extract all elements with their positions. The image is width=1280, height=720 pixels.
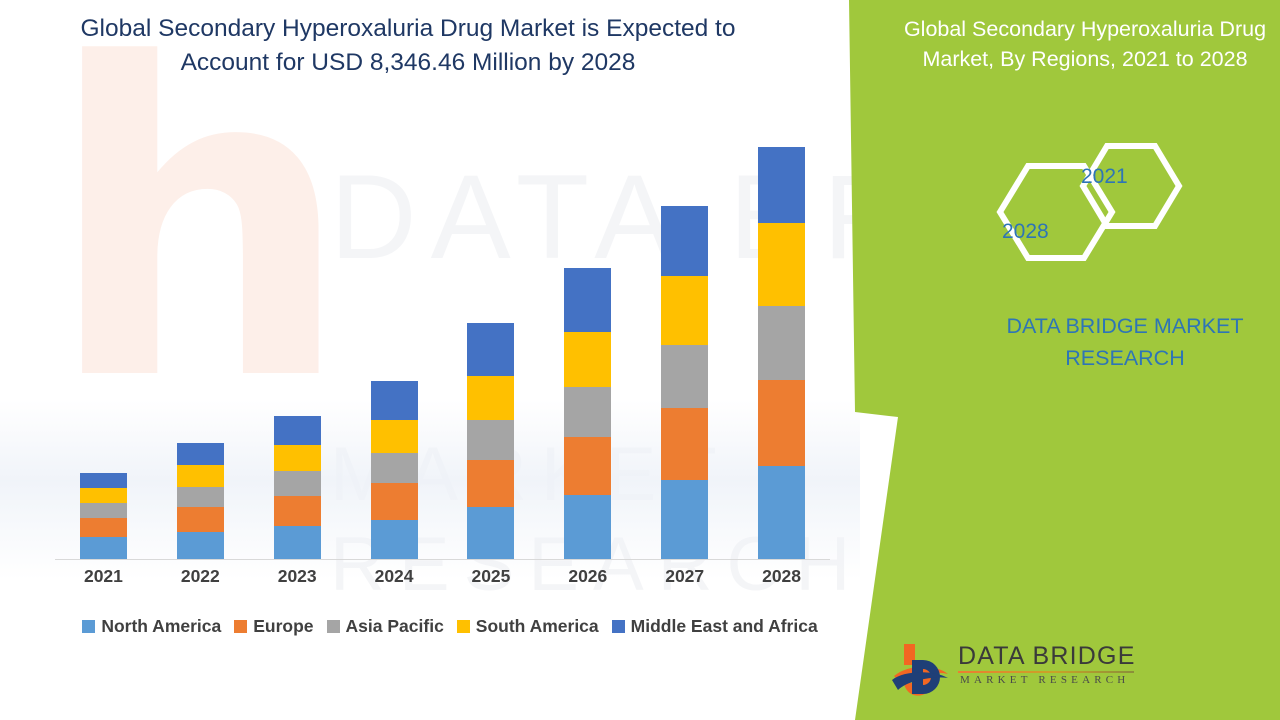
legend-item[interactable]: Middle East and Africa: [612, 616, 818, 637]
bar-segment[interactable]: [371, 381, 418, 419]
legend-label: Asia Pacific: [346, 616, 444, 637]
bar-segment[interactable]: [177, 443, 224, 465]
legend-swatch-icon: [612, 620, 625, 633]
bar-segment[interactable]: [564, 332, 611, 387]
logo-divider: [958, 671, 1134, 673]
bar-segment[interactable]: [371, 420, 418, 453]
bar-segment[interactable]: [661, 408, 708, 480]
bar-segment[interactable]: [177, 465, 224, 487]
bar-segment[interactable]: [371, 453, 418, 484]
bar-slot: [55, 120, 152, 559]
bar-segment[interactable]: [371, 520, 418, 560]
x-axis-labels: 20212022202320242025202620272028: [55, 566, 830, 587]
stacked-bar[interactable]: [661, 206, 708, 559]
legend-swatch-icon: [82, 620, 95, 633]
bar-segment[interactable]: [371, 483, 418, 519]
bar-slot: [152, 120, 249, 559]
bar-segment[interactable]: [80, 488, 127, 503]
stacked-bar-chart: [55, 120, 830, 560]
bar-segment[interactable]: [467, 323, 514, 376]
x-axis-label: 2024: [346, 566, 443, 587]
logo-primary-text: DATA BRIDGE: [958, 642, 1136, 671]
bar-segment[interactable]: [274, 496, 321, 526]
legend-label: Europe: [253, 616, 313, 637]
bar-segment[interactable]: [467, 507, 514, 559]
x-axis-label: 2022: [152, 566, 249, 587]
bar-segment[interactable]: [758, 466, 805, 559]
hexagon-badges: 2021 2028: [980, 140, 1200, 285]
stacked-bar[interactable]: [371, 381, 418, 559]
stacked-bar[interactable]: [80, 473, 127, 559]
bar-segment[interactable]: [758, 223, 805, 305]
bar-segment[interactable]: [467, 420, 514, 461]
legend-item[interactable]: Europe: [234, 616, 313, 637]
bar-group: [55, 120, 830, 559]
x-axis-label: 2025: [443, 566, 540, 587]
bar-segment[interactable]: [274, 526, 321, 559]
x-axis-line: [55, 559, 830, 560]
stacked-bar[interactable]: [758, 147, 805, 559]
chart-title: Global Secondary Hyperoxaluria Drug Mark…: [48, 12, 768, 80]
legend-label: South America: [476, 616, 599, 637]
bar-segment[interactable]: [274, 416, 321, 445]
bar-segment[interactable]: [758, 147, 805, 223]
bar-segment[interactable]: [467, 460, 514, 507]
bar-segment[interactable]: [80, 503, 127, 518]
infographic-canvas: h DATA BRIDGE MARKET RESEARCH Global Sec…: [0, 0, 1280, 720]
bar-segment[interactable]: [80, 518, 127, 537]
stacked-bar[interactable]: [467, 323, 514, 559]
x-axis-label: 2026: [539, 566, 636, 587]
bar-segment[interactable]: [564, 268, 611, 332]
bar-segment[interactable]: [177, 487, 224, 508]
bar-segment[interactable]: [661, 276, 708, 345]
legend-item[interactable]: South America: [457, 616, 599, 637]
stacked-bar[interactable]: [274, 416, 321, 559]
bar-slot: [346, 120, 443, 559]
bar-segment[interactable]: [564, 495, 611, 559]
bar-slot: [249, 120, 346, 559]
bar-segment[interactable]: [661, 345, 708, 408]
bar-segment[interactable]: [177, 507, 224, 531]
chart-legend: North AmericaEuropeAsia PacificSouth Ame…: [55, 616, 845, 637]
bar-segment[interactable]: [758, 380, 805, 466]
legend-swatch-icon: [327, 620, 340, 633]
bar-segment[interactable]: [661, 480, 708, 559]
hex-badge-2028-label: 2028: [1002, 220, 1049, 244]
legend-label: North America: [101, 616, 221, 637]
hex-badge-2021-label: 2021: [1081, 165, 1128, 189]
legend-swatch-icon: [234, 620, 247, 633]
legend-label: Middle East and Africa: [631, 616, 818, 637]
bar-slot: [733, 120, 830, 559]
legend-swatch-icon: [457, 620, 470, 633]
stacked-bar[interactable]: [177, 443, 224, 559]
bar-segment[interactable]: [274, 445, 321, 471]
logo-mark-icon: [890, 638, 952, 700]
stacked-bar[interactable]: [564, 268, 611, 559]
bar-segment[interactable]: [564, 387, 611, 437]
bar-segment[interactable]: [661, 206, 708, 276]
panel-title: Global Secondary Hyperoxaluria Drug Mark…: [900, 14, 1270, 74]
logo-secondary-text: MARKET RESEARCH: [960, 674, 1129, 686]
bar-slot: [636, 120, 733, 559]
x-axis-label: 2021: [55, 566, 152, 587]
bar-segment[interactable]: [758, 306, 805, 381]
x-axis-label: 2023: [249, 566, 346, 587]
x-axis-label: 2028: [733, 566, 830, 587]
bar-segment[interactable]: [80, 537, 127, 559]
legend-item[interactable]: North America: [82, 616, 221, 637]
bar-segment[interactable]: [177, 532, 224, 559]
data-bridge-logo: DATA BRIDGE MARKET RESEARCH: [890, 638, 1140, 704]
brand-name: DATA BRIDGE MARKET RESEARCH: [960, 310, 1280, 374]
bar-segment[interactable]: [467, 376, 514, 420]
hexagon-outline-icons: [980, 140, 1200, 285]
bar-slot: [539, 120, 636, 559]
bar-segment[interactable]: [274, 471, 321, 496]
bar-segment[interactable]: [80, 473, 127, 487]
bar-segment[interactable]: [564, 437, 611, 495]
legend-item[interactable]: Asia Pacific: [327, 616, 444, 637]
bar-slot: [443, 120, 540, 559]
x-axis-label: 2027: [636, 566, 733, 587]
